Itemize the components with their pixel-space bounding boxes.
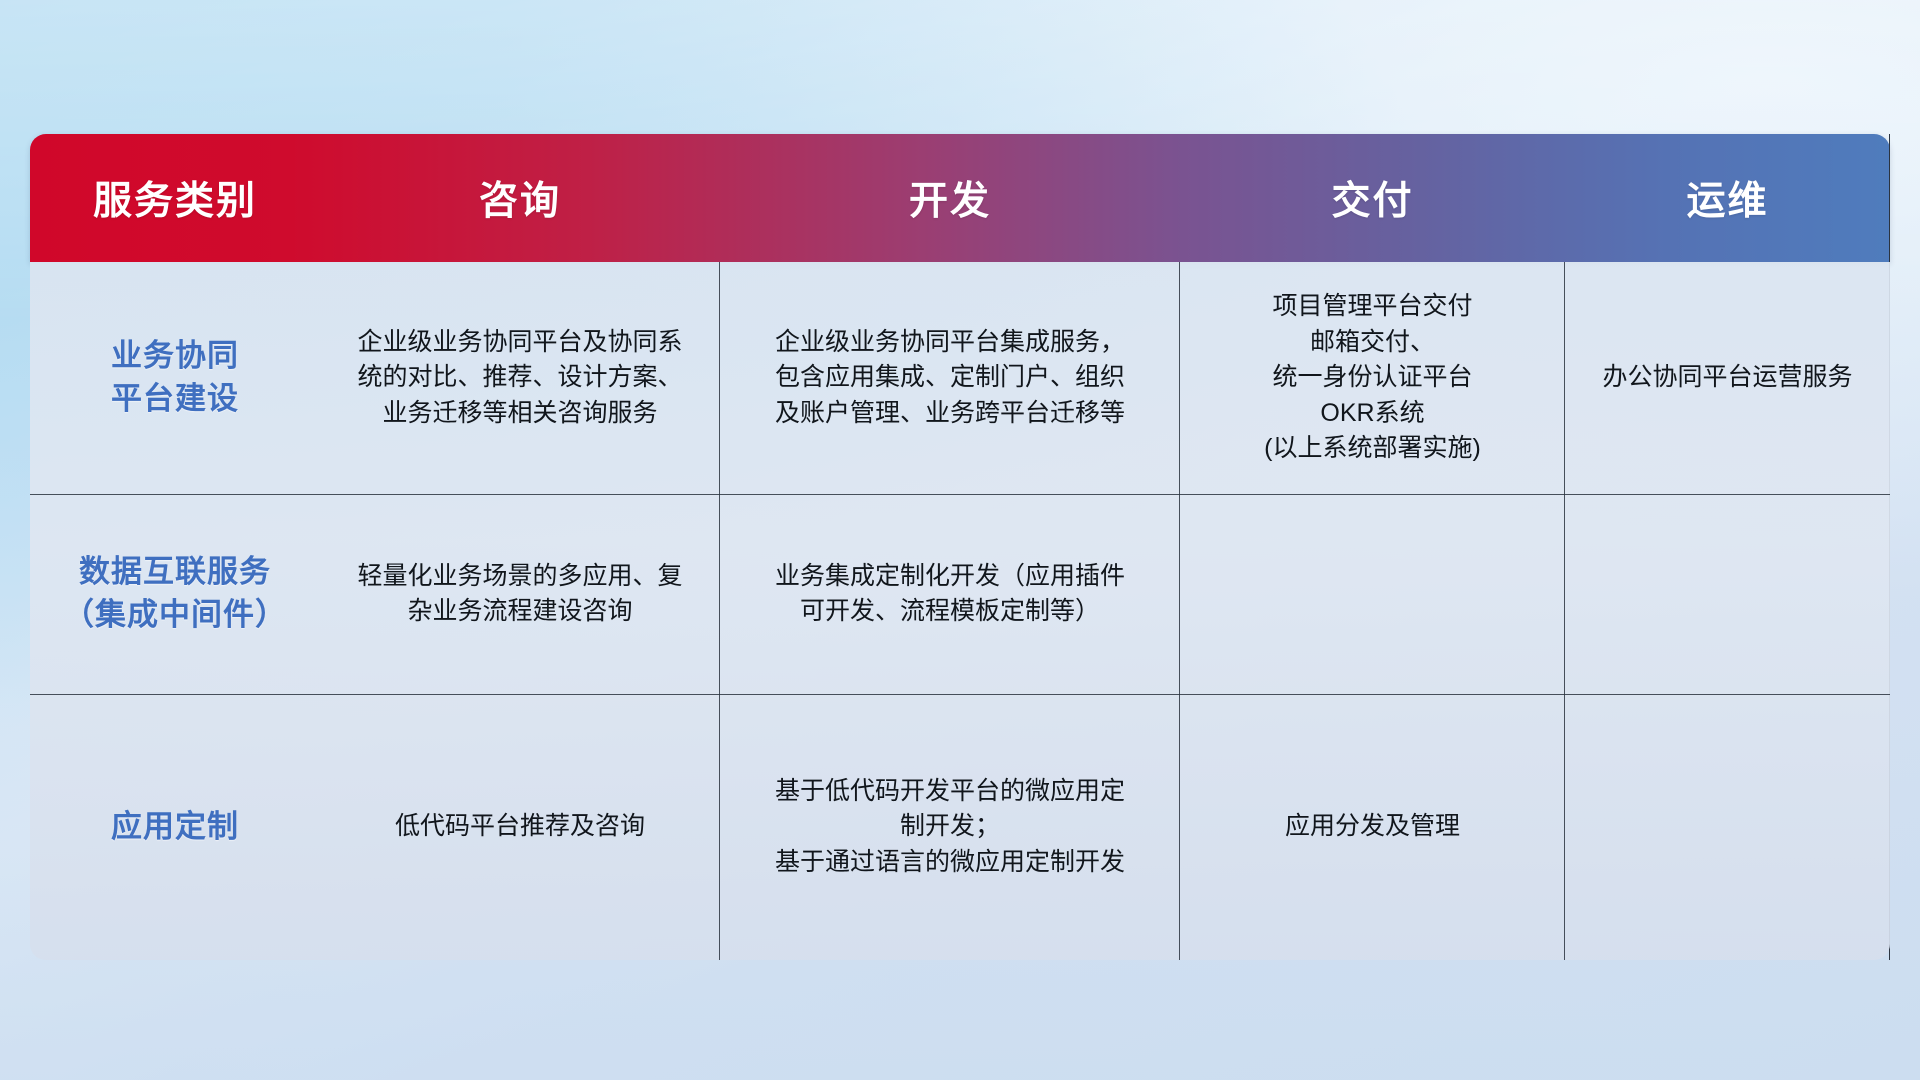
column-header-consulting: 咨询	[320, 134, 720, 262]
cell-development: 企业级业务协同平台集成服务， 包含应用集成、定制门户、组织 及账户管理、业务跨平…	[720, 262, 1180, 494]
cell-delivery: 项目管理平台交付 邮箱交付、 统一身份认证平台 OKR系统 (以上系统部署实施)	[1180, 262, 1565, 494]
row-label-text: 数据互联服务 （集成中间件）	[63, 551, 287, 637]
cell-consulting: 低代码平台推荐及咨询	[320, 694, 720, 960]
column-header-development: 开发	[720, 134, 1180, 262]
service-matrix-table: 服务类别 咨询 开发 交付 运维 业务协同 平台建设 企业级业务协同平台及协同系…	[30, 134, 1890, 960]
row-label-text: 业务协同 平台建设	[111, 335, 239, 421]
cell-operations	[1565, 694, 1890, 960]
cell-delivery	[1180, 494, 1565, 694]
cell-development: 业务集成定制化开发（应用插件 可开发、流程模板定制等）	[720, 494, 1180, 694]
table-row: 应用定制 低代码平台推荐及咨询 基于低代码开发平台的微应用定 制开发； 基于通过…	[30, 694, 1890, 960]
cell-delivery: 应用分发及管理	[1180, 694, 1565, 960]
cell-consulting: 轻量化业务场景的多应用、复 杂业务流程建设咨询	[320, 494, 720, 694]
row-label-cell: 业务协同 平台建设	[30, 262, 320, 494]
column-header-category: 服务类别	[30, 134, 320, 262]
row-label-cell: 应用定制	[30, 694, 320, 960]
cell-operations: 办公协同平台运营服务	[1565, 262, 1890, 494]
column-header-operations: 运维	[1565, 134, 1890, 262]
row-label-cell: 数据互联服务 （集成中间件）	[30, 494, 320, 694]
cell-consulting: 企业级业务协同平台及协同系 统的对比、推荐、设计方案、 业务迁移等相关咨询服务	[320, 262, 720, 494]
table-body: 业务协同 平台建设 企业级业务协同平台及协同系 统的对比、推荐、设计方案、 业务…	[30, 262, 1890, 960]
row-label-text: 应用定制	[111, 806, 239, 849]
cell-development: 基于低代码开发平台的微应用定 制开发； 基于通过语言的微应用定制开发	[720, 694, 1180, 960]
table-header-row: 服务类别 咨询 开发 交付 运维	[30, 134, 1890, 262]
column-header-delivery: 交付	[1180, 134, 1565, 262]
table-row: 数据互联服务 （集成中间件） 轻量化业务场景的多应用、复 杂业务流程建设咨询 业…	[30, 494, 1890, 694]
cell-operations	[1565, 494, 1890, 694]
table-row: 业务协同 平台建设 企业级业务协同平台及协同系 统的对比、推荐、设计方案、 业务…	[30, 262, 1890, 494]
